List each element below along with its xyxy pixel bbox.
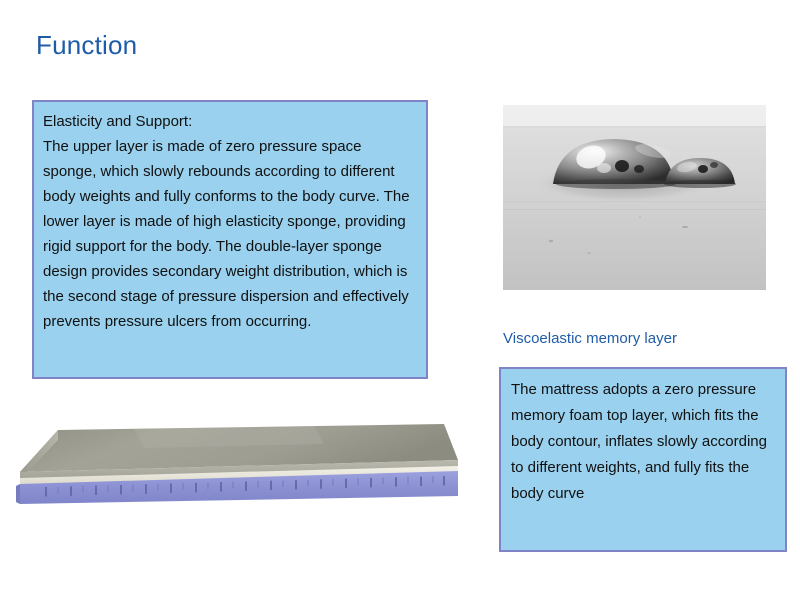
textbox-mattress-description-body: The mattress adopts a zero pressure memo… <box>501 369 785 511</box>
slide-canvas: Function Elasticity and Support: The upp… <box>0 0 800 600</box>
textbox-elasticity-and-support: Elasticity and Support: The upper layer … <box>32 100 428 379</box>
droplet-photo-graphic <box>503 105 766 290</box>
mattress-layers-illustration <box>14 418 458 510</box>
mattress-graphic <box>14 418 458 510</box>
textbox-elasticity-body: Elasticity and Support: The upper layer … <box>34 102 426 338</box>
memory-foam-droplet-photo <box>503 105 766 290</box>
page-title: Function <box>36 28 137 62</box>
photo-caption: Viscoelastic memory layer <box>503 328 677 350</box>
textbox-mattress-description: The mattress adopts a zero pressure memo… <box>499 367 787 552</box>
